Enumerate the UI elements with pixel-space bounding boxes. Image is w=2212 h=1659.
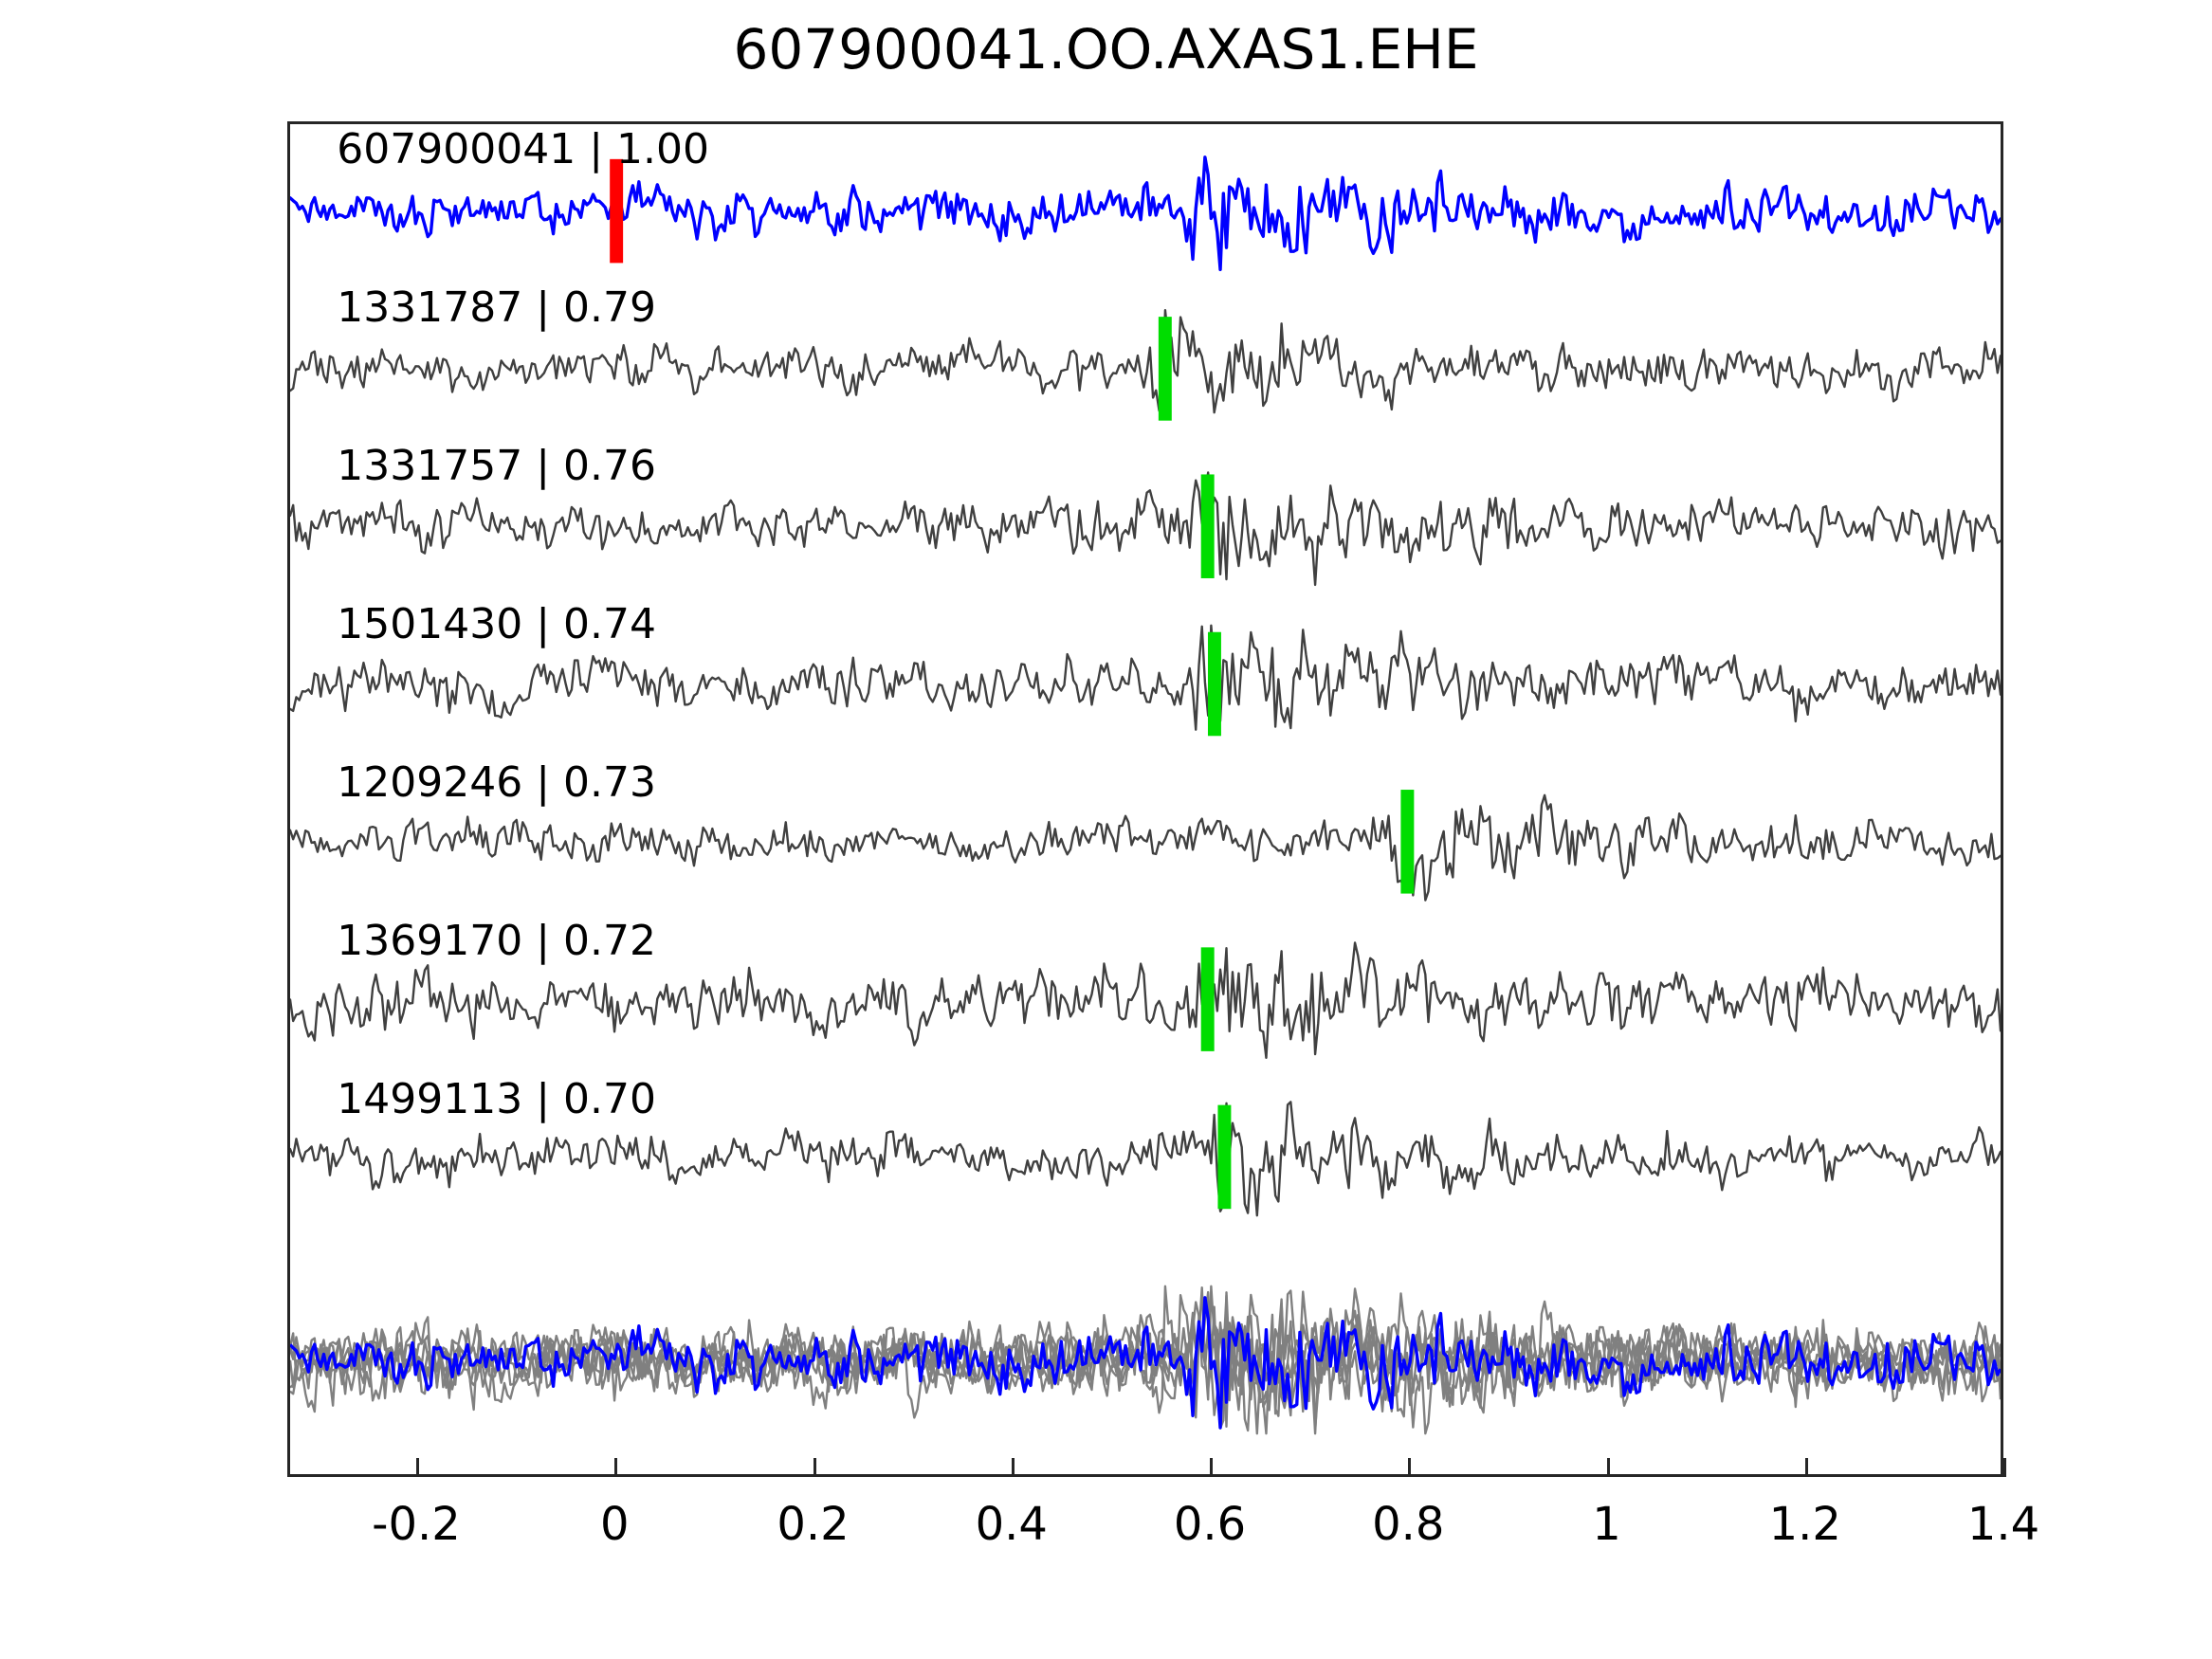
x-tick-mark xyxy=(1607,1458,1610,1477)
pick-time-marker xyxy=(1400,790,1414,894)
trace-label: 1369170 | 0.72 xyxy=(337,921,656,962)
x-tick-label: 0.4 xyxy=(976,1498,1048,1551)
x-tick-label: 0.8 xyxy=(1372,1498,1444,1551)
pick-time-marker xyxy=(1208,632,1221,737)
x-tick-label: 1.2 xyxy=(1769,1498,1841,1551)
trace-label: 1209246 | 0.73 xyxy=(337,762,656,804)
trace-label: 607900041 | 1.00 xyxy=(337,129,709,171)
pick-time-marker xyxy=(1201,474,1215,578)
x-tick-mark xyxy=(1805,1458,1808,1477)
match-waveform-trace xyxy=(290,795,2001,901)
trace-label: 1499113 | 0.70 xyxy=(337,1079,656,1121)
x-tick-label: 0.2 xyxy=(777,1498,849,1551)
template-waveform-trace xyxy=(290,157,2001,270)
origin-time-marker xyxy=(610,159,623,264)
x-tick-label: 0.6 xyxy=(1174,1498,1246,1551)
x-tick-mark xyxy=(1210,1458,1213,1477)
x-tick-mark xyxy=(614,1458,617,1477)
x-tick-mark xyxy=(416,1458,419,1477)
pick-time-marker xyxy=(1201,947,1215,1051)
figure-root: 607900041.OO.AXAS1.EHE 607900041 | 1.001… xyxy=(0,0,2212,1659)
pick-time-marker xyxy=(1159,317,1172,421)
x-tick-mark xyxy=(1408,1458,1411,1477)
pick-time-marker xyxy=(1217,1105,1231,1210)
x-tick-mark xyxy=(814,1458,816,1477)
chart-title: 607900041.OO.AXAS1.EHE xyxy=(0,17,2212,82)
x-tick-mark xyxy=(1012,1458,1015,1477)
trace-label: 1331787 | 0.79 xyxy=(337,287,656,329)
x-axis: -0.200.20.40.60.811.21.4 xyxy=(287,1477,2003,1591)
x-tick-label: 0 xyxy=(600,1498,630,1551)
trace-label: 1331757 | 0.76 xyxy=(337,446,656,487)
x-tick-label: 1 xyxy=(1592,1498,1621,1551)
x-tick-label: -0.2 xyxy=(372,1498,461,1551)
trace-label: 1501430 | 0.74 xyxy=(337,604,656,646)
x-tick-label: 1.4 xyxy=(1967,1498,2039,1551)
x-tick-mark xyxy=(2003,1458,2006,1477)
